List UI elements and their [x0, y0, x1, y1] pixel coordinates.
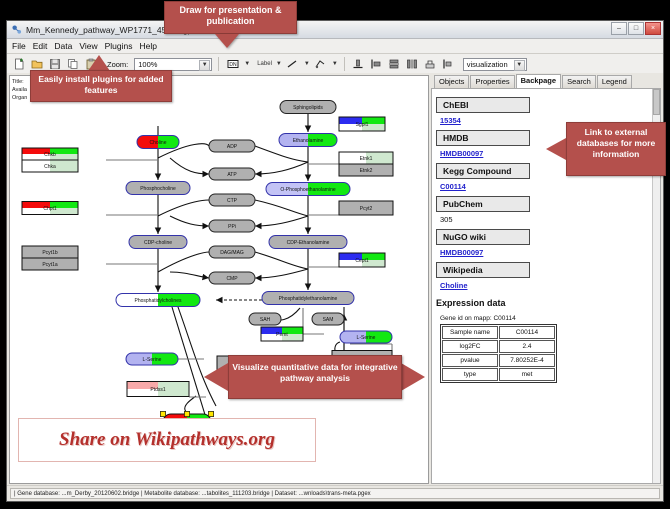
screenshot-root: Mm_Kennedy_pathway_WP1771_45176.gpml – □… [0, 0, 670, 509]
scrollbar-thumb[interactable] [653, 89, 660, 115]
table-row: log2FC 2.4 [442, 340, 555, 353]
selection-handle[interactable] [184, 411, 189, 416]
table-row: pvalue 7.80252E-4 [442, 354, 555, 367]
db-header-chebi: ChEBI [436, 97, 530, 113]
datanode-dropdown-icon[interactable]: ▼ [244, 61, 250, 67]
callout-plugins: Easily install plugins for added feature… [30, 70, 172, 102]
node-label: Pemt [276, 332, 288, 338]
metabolite-node-ppi[interactable]: PPi [209, 220, 255, 232]
expr-val-1: 2.4 [499, 340, 555, 353]
new-file-icon[interactable] [11, 57, 26, 72]
callout-draw-arrow-icon [215, 34, 239, 48]
align-stack-icon[interactable] [387, 57, 402, 72]
db-header-nugo: NuGO wiki [436, 229, 530, 245]
node-label: SAM [323, 317, 334, 323]
chevron-down-icon[interactable]: ▼ [199, 60, 210, 71]
node-label: O-Phosphoethanolamine [280, 187, 336, 193]
node-label: Etnk1 [360, 156, 373, 162]
visualization-combo[interactable]: visualization ▼ [463, 58, 527, 71]
label-dropdown-icon[interactable]: ▼ [276, 61, 282, 67]
gene-node-chka[interactable]: Chka [22, 160, 78, 172]
gene-node-pcyt2[interactable]: Pcyt2 [339, 201, 393, 215]
db-link-nugo[interactable]: HMDB00097 [440, 248, 652, 257]
db-header-hmdb: HMDB [436, 130, 530, 146]
expr-key-2: pvalue [442, 354, 498, 367]
node-label: L-Serine [357, 335, 376, 341]
metabolite-node-cdp-ethanolamine[interactable]: CDP-Ethanolamine [269, 236, 347, 249]
metabolite-node-adp[interactable]: ADP [209, 140, 255, 152]
metabolite-node-dag-mag[interactable]: DAG/MAG [209, 246, 255, 258]
close-button[interactable]: × [645, 22, 661, 35]
side-panel-tabs: Objects Properties Backpage Search Legen… [431, 75, 661, 88]
node-label: Pcyt1b [42, 250, 58, 256]
gene-id-line: Gene id on mapp: C00114 [440, 315, 652, 322]
node-label: DAG/MAG [220, 250, 244, 256]
metabolite-node-ethanolamine[interactable]: Ethanolamine [279, 134, 337, 147]
db-section-nugo: NuGO wiki HMDB00097 [436, 224, 652, 257]
node-label: Chkb [44, 152, 56, 158]
shape-dropdown-icon[interactable]: ▼ [332, 61, 338, 67]
node-label: Ptdss1 [150, 387, 166, 393]
label-tool[interactable]: Label [257, 61, 272, 67]
table-row: Sample name C00114 [442, 326, 555, 339]
expr-val-3: met [499, 368, 555, 381]
toolbar-separator-2 [344, 57, 345, 71]
db-value-pubchem: 305 [440, 215, 652, 224]
menu-edit[interactable]: Edit [33, 41, 48, 51]
visualization-value: visualization [467, 60, 508, 69]
db-header-wikipedia: Wikipedia [436, 262, 530, 278]
gene-node-pcyt1a[interactable]: Pcyt1a [22, 258, 78, 270]
metabolite-node-sphingolipids[interactable]: Sphingolipids [280, 101, 336, 114]
expr-key-1: log2FC [442, 340, 498, 353]
metabolite-node-o-phosphoethanolamine[interactable]: O-Phosphoethanolamine [266, 183, 350, 196]
node-label: Etnk2 [360, 168, 373, 174]
svg-text:DN: DN [229, 62, 237, 68]
node-label: SAH [260, 317, 271, 323]
menu-file[interactable]: File [12, 41, 26, 51]
node-label: Cept1 [355, 258, 369, 264]
node-label: Chka [44, 164, 56, 170]
metabolite-node-sah[interactable]: SAH [249, 313, 281, 325]
expr-val-2: 7.80252E-4 [499, 354, 555, 367]
window-titlebar: Mm_Kennedy_pathway_WP1771_45176.gpml – □… [7, 21, 663, 39]
callout-share-banner: Share on Wikipathways.org [18, 418, 316, 462]
db-section-pubchem: PubChem 305 [436, 191, 652, 224]
db-header-kegg: Kegg Compound [436, 163, 530, 179]
node-label: CTP [227, 198, 238, 204]
line-tool-icon[interactable] [285, 57, 300, 72]
gene-node-etnk2[interactable]: Etnk2 [339, 164, 393, 176]
zoom-value: 100% [138, 60, 157, 69]
node-label: Pcyt2 [360, 206, 373, 212]
menu-view[interactable]: View [79, 41, 97, 51]
db-section-chebi: ChEBI 15354 [436, 92, 652, 125]
expr-key-0: Sample name [442, 326, 498, 339]
menu-data[interactable]: Data [54, 41, 72, 51]
node-label: ATP [227, 172, 237, 178]
node-label: ADP [227, 144, 238, 150]
gene-node-cept1[interactable]: Cept1 [339, 253, 385, 267]
toolbar-separator [218, 57, 219, 71]
db-section-wikipedia: Wikipedia Choline [436, 257, 652, 290]
db-link-wikipedia[interactable]: Choline [440, 281, 652, 290]
node-label: CDP-Ethanolamine [287, 240, 330, 246]
tab-properties[interactable]: Properties [470, 75, 514, 88]
tab-objects[interactable]: Objects [434, 75, 469, 88]
distribute-icon[interactable] [405, 57, 420, 72]
node-label: Ethanolamine [293, 138, 324, 144]
shape-tool-icon[interactable] [313, 57, 328, 72]
gene-node-ptdss1[interactable]: Ptdss1 [127, 382, 189, 397]
datanode-icon[interactable]: DN [225, 57, 240, 72]
statusbar: | Gene database: ...m_Derby_20120602.bri… [7, 485, 663, 501]
chevron-down-icon-2[interactable]: ▼ [514, 60, 525, 71]
gene-node-pemt[interactable]: Pemt [261, 327, 303, 341]
align-left-icon[interactable] [369, 57, 384, 72]
menu-help[interactable]: Help [140, 41, 157, 51]
selection-handle[interactable] [208, 411, 213, 416]
menu-plugins[interactable]: Plugins [105, 41, 133, 51]
gene-node-etnk1[interactable]: Etnk1 [339, 152, 393, 164]
metabolite-node-sam[interactable]: SAM [312, 313, 344, 325]
metabolite-node-l-serine[interactable]: L-Serine [340, 331, 392, 343]
zoom-combo[interactable]: 100% ▼ [134, 58, 212, 71]
metabolite-node-choline[interactable]: Choline [137, 136, 179, 149]
metabolite-node-phosphatidylcholines[interactable]: Phosphatidylcholines [116, 294, 200, 307]
tab-search[interactable]: Search [562, 75, 596, 88]
group-icon[interactable] [423, 57, 438, 72]
callout-visualize-right-arrow-icon [401, 363, 425, 391]
callout-plugins-arrow-icon [88, 55, 110, 71]
metabolite-node-cmp[interactable]: CMP [209, 272, 255, 284]
node-label: Chpt1 [43, 206, 57, 212]
metabolite-node-phosphatidylethanolamine[interactable]: Phosphatidylethanolamine [262, 292, 354, 305]
expr-key-3: type [442, 368, 498, 381]
zoom-label: Zoom: [107, 60, 128, 69]
menubar: File Edit Data View Plugins Help [7, 39, 663, 54]
minimize-button[interactable]: – [611, 22, 627, 35]
gene-node-pcyt1b[interactable]: Pcyt1b [22, 246, 78, 258]
node-label: Pcyt1a [42, 262, 58, 268]
window-controls: – □ × [611, 22, 661, 35]
line-dropdown-icon[interactable]: ▼ [304, 61, 310, 67]
metabolite-node-l-serine[interactable]: L-Serine [126, 353, 178, 365]
node-label: PPi [228, 224, 236, 230]
table-row: type met [442, 368, 555, 381]
tab-backpage[interactable]: Backpage [516, 74, 561, 88]
align-top-icon[interactable] [351, 57, 366, 72]
maximize-button[interactable]: □ [628, 22, 644, 35]
gene-node-chpt1[interactable]: Chpt1 [22, 202, 78, 215]
order-icon[interactable] [441, 57, 456, 72]
selection-handle[interactable] [160, 411, 165, 416]
node-label: Phosphocholine [140, 186, 176, 192]
node-label: Phosphatidylcholines [135, 298, 182, 304]
callout-links-arrow-icon [546, 138, 566, 160]
db-link-kegg[interactable]: C00114 [440, 182, 652, 191]
gene-node-sgpl1[interactable]: Sgpl1 [339, 117, 385, 131]
metabolite-node-atp[interactable]: ATP [209, 168, 255, 180]
callout-visualize: Visualize quantitative data for integrat… [228, 355, 402, 399]
gene-node-chkb[interactable]: Chkb [22, 148, 78, 160]
metabolite-node-ctp[interactable]: CTP [209, 194, 255, 206]
node-label: L-Serine [143, 357, 162, 363]
db-header-pubchem: PubChem [436, 196, 530, 212]
node-label: CDP-choline [144, 240, 172, 246]
app-icon [11, 24, 22, 35]
node-label: Sphingolipids [293, 105, 323, 111]
node-label: Sgpl1 [356, 122, 369, 128]
expression-data-heading: Expression data [436, 298, 652, 308]
node-label: CMP [226, 276, 238, 282]
callout-draw: Draw for presentation & publication [164, 1, 297, 34]
metabolite-node-cdp-choline[interactable]: CDP-choline [129, 236, 187, 249]
status-text: | Gene database: ...m_Derby_20120602.bri… [10, 488, 660, 499]
node-label: Choline [150, 140, 167, 146]
callout-visualize-left-arrow-icon [204, 363, 228, 391]
expr-val-0: C00114 [499, 326, 555, 339]
tab-legend[interactable]: Legend [597, 75, 632, 88]
expression-table: Sample name C00114 log2FC 2.4 pvalue 7.8… [440, 324, 557, 383]
metabolite-node-phosphocholine[interactable]: Phosphocholine [126, 182, 190, 195]
callout-links: Link to external databases for more info… [566, 122, 666, 176]
share-text: Share on Wikipathways.org [59, 429, 275, 451]
node-label: Phosphatidylethanolamine [279, 296, 338, 302]
